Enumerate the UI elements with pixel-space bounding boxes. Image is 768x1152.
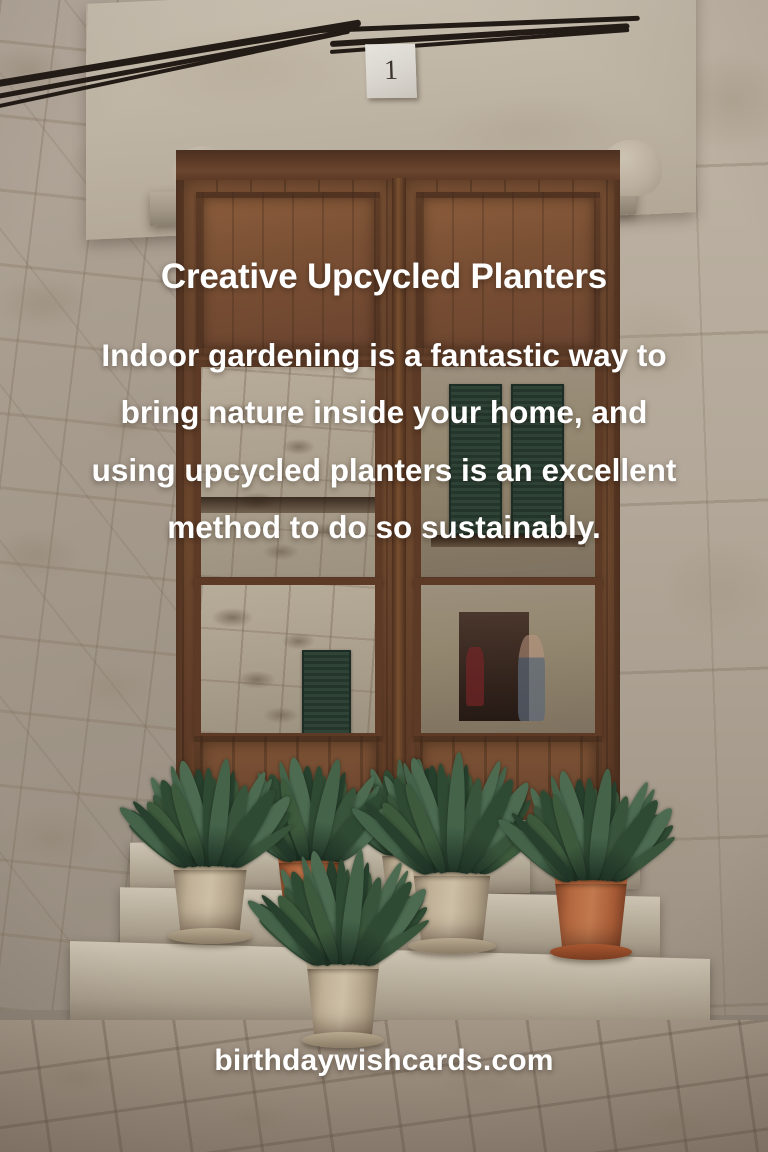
aspidistra-foliage [166,744,254,866]
potted-plant [548,754,634,960]
aspidistra-foliage [300,834,386,964]
potted-plant [166,744,254,944]
potted-plant [300,834,386,1048]
aspidistra-foliage [548,754,634,880]
flower-pot [172,858,248,932]
flower-pot [306,956,380,1036]
pinterest-style-quote-card: 1 [0,0,768,1152]
body-paragraph: Indoor gardening is a fantastic way to b… [86,327,682,556]
pot-saucer [168,928,252,944]
flower-pot [412,864,491,942]
page-title: Creative Upcycled Planters [0,256,768,297]
aspidistra-foliage [406,738,498,872]
footer-website-url: birthdaywishcards.com [0,1044,768,1078]
pot-saucer [408,938,496,954]
pot-saucer [302,1032,385,1048]
pot-saucer [550,944,633,960]
flower-pot [554,872,628,948]
